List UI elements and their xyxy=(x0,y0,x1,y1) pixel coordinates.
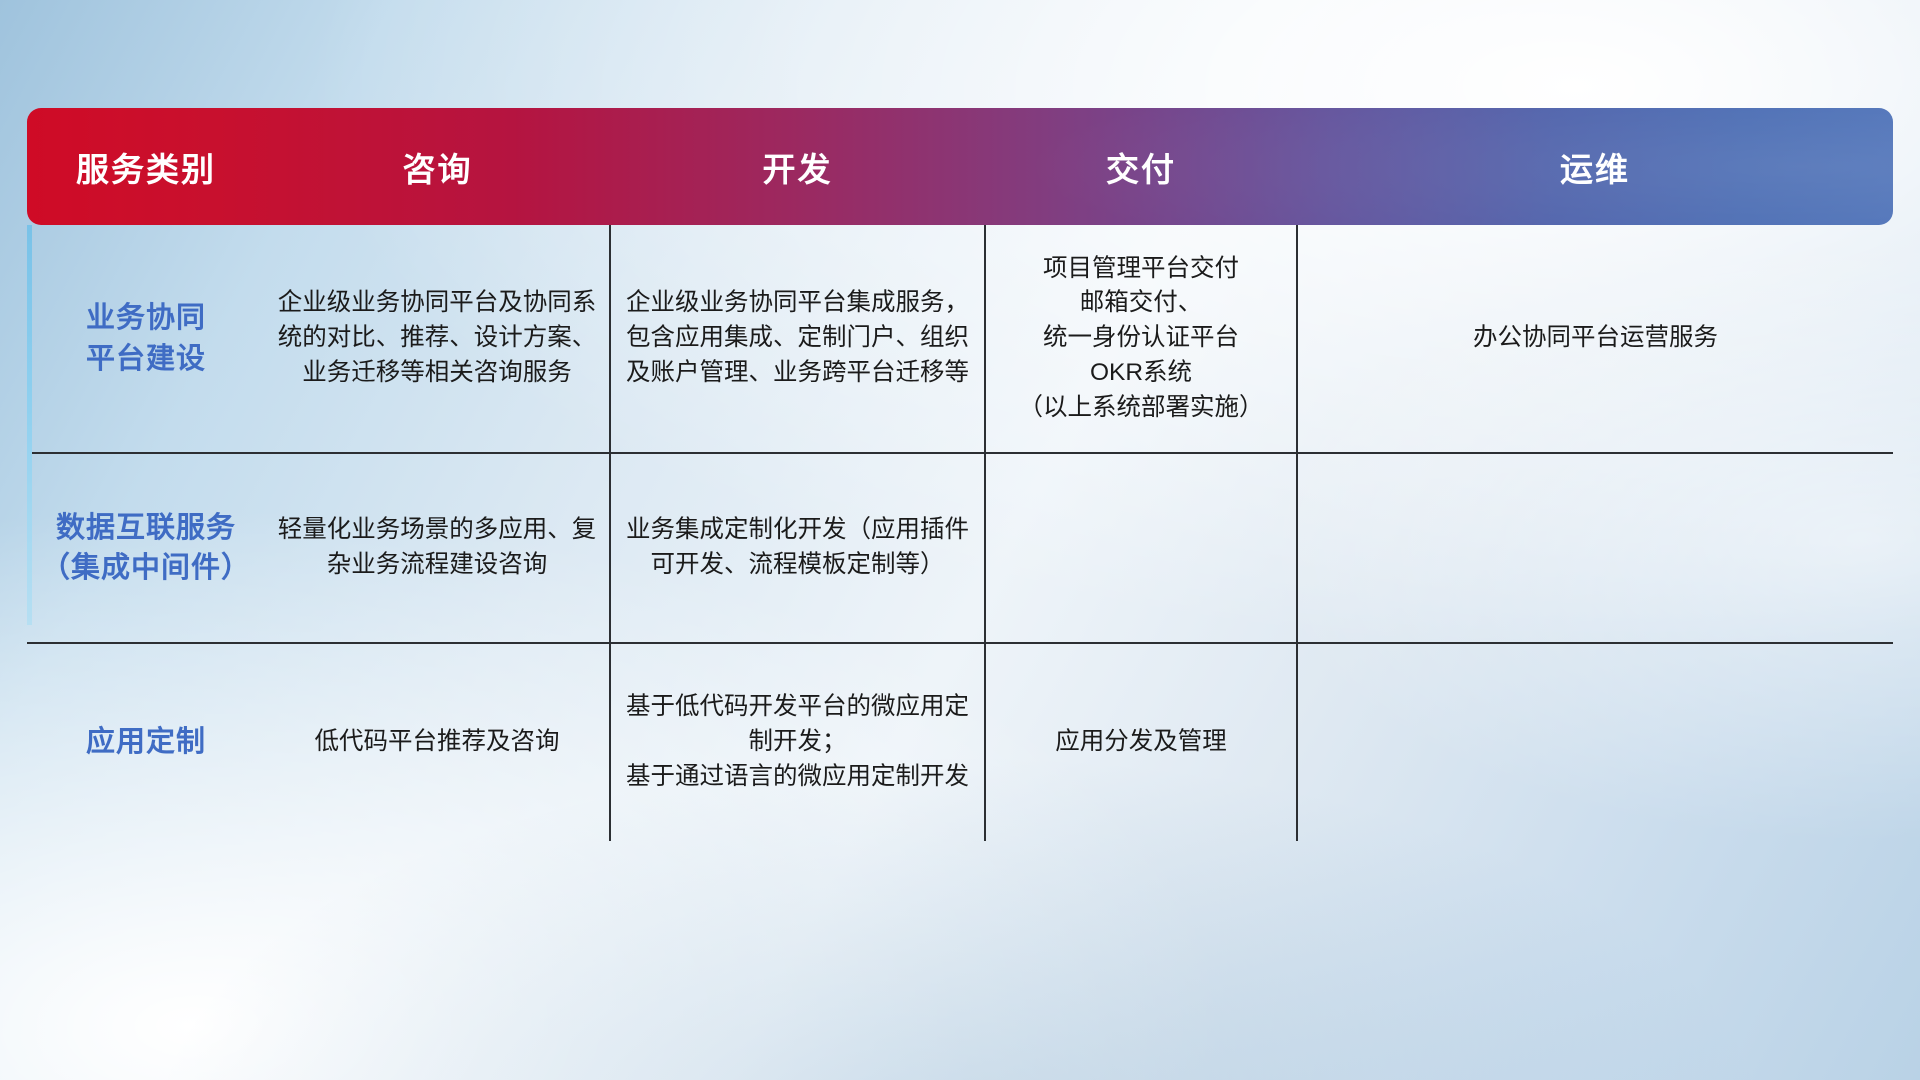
cell-operations-row2 xyxy=(1297,453,1893,643)
service-table: 服务类别 咨询 开发 交付 运维 业务协同 平台建设 企业级业务协同平台及协同系… xyxy=(27,108,1893,841)
cell-delivery-row3: 应用分发及管理 xyxy=(985,643,1297,841)
cell-operations-row3 xyxy=(1297,643,1893,841)
row-label-business-collaboration: 业务协同 平台建设 xyxy=(27,225,265,453)
service-matrix-table: 服务类别 咨询 开发 交付 运维 业务协同 平台建设 企业级业务协同平台及协同系… xyxy=(27,108,1893,780)
cell-consulting-row1: 企业级业务协同平台及协同系 统的对比、推荐、设计方案、 业务迁移等相关咨询服务 xyxy=(265,225,610,453)
cell-development-row3: 基于低代码开发平台的微应用定 制开发； 基于通过语言的微应用定制开发 xyxy=(610,643,985,841)
table-row: 业务协同 平台建设 企业级业务协同平台及协同系 统的对比、推荐、设计方案、 业务… xyxy=(27,225,1893,453)
column-header-operations: 运维 xyxy=(1297,108,1893,225)
table-row: 数据互联服务 （集成中间件） 轻量化业务场景的多应用、复 杂业务流程建设咨询 业… xyxy=(27,453,1893,643)
row-label-app-customization: 应用定制 xyxy=(27,643,265,841)
table-header: 服务类别 咨询 开发 交付 运维 xyxy=(27,108,1893,225)
column-header-development: 开发 xyxy=(610,108,985,225)
row-label-data-interconnect: 数据互联服务 （集成中间件） xyxy=(27,453,265,643)
column-header-delivery: 交付 xyxy=(985,108,1297,225)
cell-development-row1: 企业级业务协同平台集成服务， 包含应用集成、定制门户、组织 及账户管理、业务跨平… xyxy=(610,225,985,453)
cell-delivery-row2 xyxy=(985,453,1297,643)
cell-consulting-row3: 低代码平台推荐及咨询 xyxy=(265,643,610,841)
cell-operations-row1: 办公协同平台运营服务 xyxy=(1297,225,1893,453)
cell-delivery-row1: 项目管理平台交付 邮箱交付、 统一身份认证平台 OKR系统 （以上系统部署实施） xyxy=(985,225,1297,453)
column-header-category: 服务类别 xyxy=(27,108,265,225)
table-row: 应用定制 低代码平台推荐及咨询 基于低代码开发平台的微应用定 制开发； 基于通过… xyxy=(27,643,1893,841)
table-body: 业务协同 平台建设 企业级业务协同平台及协同系 统的对比、推荐、设计方案、 业务… xyxy=(27,225,1893,841)
column-header-consulting: 咨询 xyxy=(265,108,610,225)
left-accent-strip xyxy=(27,225,32,625)
cell-consulting-row2: 轻量化业务场景的多应用、复 杂业务流程建设咨询 xyxy=(265,453,610,643)
slide-canvas: 服务类别 咨询 开发 交付 运维 业务协同 平台建设 企业级业务协同平台及协同系… xyxy=(0,0,1920,1080)
cell-development-row2: 业务集成定制化开发（应用插件 可开发、流程模板定制等） xyxy=(610,453,985,643)
header-row: 服务类别 咨询 开发 交付 运维 xyxy=(27,108,1893,225)
